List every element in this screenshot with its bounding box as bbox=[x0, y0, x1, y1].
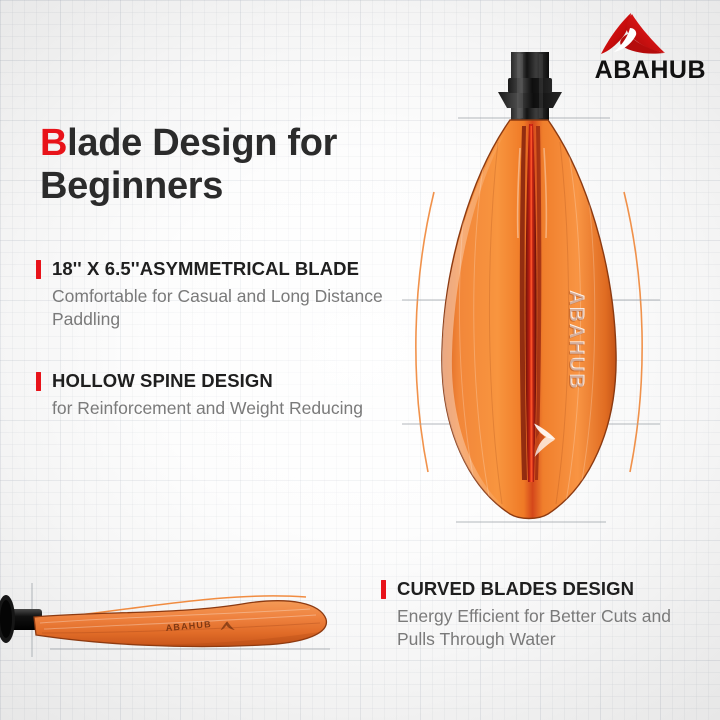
headline-accent-letter: B bbox=[40, 122, 67, 164]
feature-curved-blades: CURVED BLADES DESIGN Energy Efficient fo… bbox=[381, 578, 701, 652]
svg-text:ABAHUB: ABAHUB bbox=[565, 290, 588, 390]
feature-title: CURVED BLADES DESIGN bbox=[397, 578, 634, 600]
product-infographic-canvas: ABAHUB Blade Design for Beginners 18'' X… bbox=[0, 0, 720, 720]
feature-title: 18'' X 6.5''ASYMMETRICAL BLADE bbox=[52, 258, 359, 280]
headline-line-2: Beginners bbox=[40, 165, 223, 207]
brand-logo: ABAHUB bbox=[512, 12, 712, 83]
feature-asymmetrical-blade: 18'' X 6.5''ASYMMETRICAL BLADE Comfortab… bbox=[36, 258, 426, 332]
abahub-chevron-icon bbox=[598, 12, 668, 56]
feature-subtitle: Energy Efficient for Better Cuts and Pul… bbox=[381, 605, 701, 652]
bullet-marker-icon bbox=[36, 260, 41, 279]
feature-title: HOLLOW SPINE DESIGN bbox=[52, 370, 273, 392]
feature-heading-row: HOLLOW SPINE DESIGN bbox=[36, 370, 436, 392]
blade-side-imprint-abahub: ABAHUB bbox=[165, 619, 212, 633]
blade-side-imprint-chevron-icon bbox=[221, 621, 235, 630]
headline-line-1: lade Design for bbox=[67, 122, 337, 164]
svg-text:ABAHUB: ABAHUB bbox=[564, 291, 587, 391]
feature-subtitle: for Reinforcement and Weight Reducing bbox=[36, 397, 436, 420]
kayak-paddle-blade-side-profile: ABAHUB bbox=[0, 575, 350, 680]
svg-text:ABAHUB: ABAHUB bbox=[165, 619, 212, 633]
feature-subtitle: Comfortable for Casual and Long Distance… bbox=[36, 285, 426, 332]
bullet-marker-icon bbox=[36, 372, 41, 391]
bullet-marker-icon bbox=[381, 580, 386, 599]
feature-heading-row: CURVED BLADES DESIGN bbox=[381, 578, 701, 600]
brand-name: ABAHUB bbox=[512, 58, 712, 83]
blade-imprint-chevron-icon bbox=[534, 424, 555, 457]
kayak-paddle-blade-front-view: ABAHUB ABAHUB bbox=[398, 52, 664, 552]
feature-heading-row: 18'' X 6.5''ASYMMETRICAL BLADE bbox=[36, 258, 426, 280]
blade-imprint-abahub: ABAHUB ABAHUB bbox=[564, 290, 588, 391]
feature-hollow-spine: HOLLOW SPINE DESIGN for Reinforcement an… bbox=[36, 370, 436, 420]
page-title: Blade Design for Beginners bbox=[40, 122, 420, 208]
